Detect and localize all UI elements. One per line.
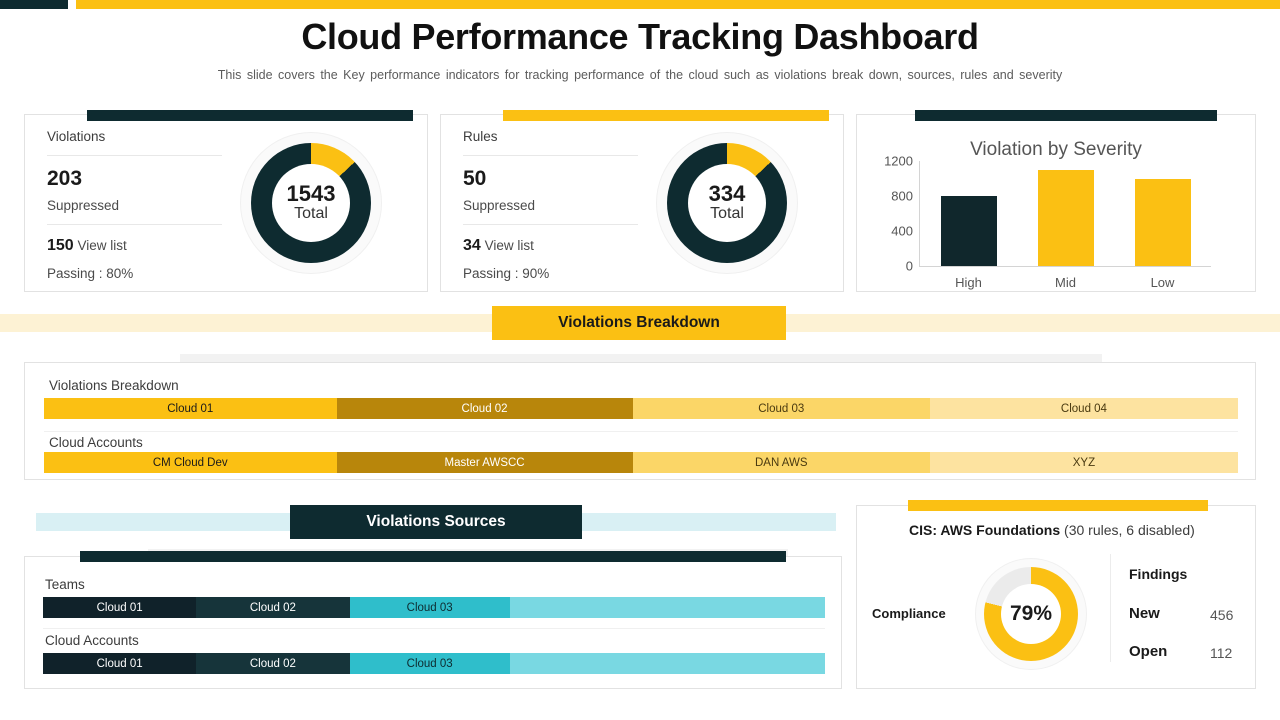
rules-suppressed-value: 50 [463, 156, 638, 191]
breakdown-row-1-segment[interactable]: XYZ [930, 452, 1238, 473]
violations-passing: Passing : 80% [47, 255, 222, 281]
violations-donut-label: Total [294, 205, 328, 223]
breakdown-row-0-segment[interactable]: Cloud 04 [930, 398, 1238, 419]
y-axis-tick: 1200 [884, 154, 913, 169]
rules-card-accent [503, 110, 829, 121]
rules-view-list-link[interactable]: View list [485, 238, 534, 253]
sources-row-1-label: Cloud Accounts [45, 633, 139, 648]
sources-panel-accent [80, 551, 786, 562]
severity-chart-title: Violation by Severity [857, 139, 1255, 161]
findings-heading: Findings [1129, 566, 1187, 582]
sources-row-1-segment[interactable]: Cloud 02 [196, 653, 349, 674]
breakdown-panel: Violations Breakdown Cloud 01Cloud 02Clo… [24, 362, 1256, 480]
breakdown-row-1-segment[interactable]: CM Cloud Dev [44, 452, 337, 473]
finding-name-open: Open [1129, 643, 1167, 660]
sources-row-0-segment[interactable]: Cloud 01 [43, 597, 196, 618]
compliance-donut-center: 79% [1001, 584, 1061, 644]
page-title: Cloud Performance Tracking Dashboard [0, 16, 1280, 58]
rules-donut: 334 Total [657, 133, 797, 273]
sources-panel: Teams Cloud 01Cloud 02Cloud 03 Cloud Acc… [24, 556, 842, 689]
breakdown-row-1-label: Cloud Accounts [49, 435, 143, 450]
bar-mid [1038, 170, 1094, 266]
top-accent-gold [76, 0, 1280, 9]
sources-row-1-segment[interactable]: Cloud 01 [43, 653, 196, 674]
finding-value-new: 456 [1210, 607, 1233, 623]
violations-suppressed-label: Suppressed [47, 191, 222, 224]
breakdown-row-0-bar: Cloud 01Cloud 02Cloud 03Cloud 04 [44, 398, 1238, 419]
finding-name-new: New [1129, 605, 1160, 622]
severity-chart-plot: 12008004000HighMidLow [919, 161, 1211, 267]
rules-card: Rules 50 Suppressed 34 View list Passing… [440, 114, 844, 292]
violations-view-list-link[interactable]: View list [77, 238, 126, 253]
compliance-donut: 79% [976, 559, 1086, 669]
violations-suppressed-value: 203 [47, 156, 222, 191]
violations-donut: 1543 Total [241, 133, 381, 273]
page-subtitle: This slide covers the Key performance in… [0, 68, 1280, 82]
breakdown-row-0-segment[interactable]: Cloud 03 [633, 398, 930, 419]
bar-high [941, 196, 997, 266]
sources-row-0-label: Teams [45, 577, 85, 592]
severity-card-accent [915, 110, 1217, 121]
breakdown-banner: Violations Breakdown [492, 306, 786, 340]
rules-kpi-stats: Rules 50 Suppressed 34 View list Passing… [463, 129, 638, 281]
y-axis-tick: 800 [891, 189, 913, 204]
violations-kpi-stats: Violations 203 Suppressed 150 View list … [47, 129, 222, 281]
sources-row-0-bar: Cloud 01Cloud 02Cloud 03 [43, 597, 825, 618]
breakdown-row-1-segment[interactable]: DAN AWS [633, 452, 930, 473]
cis-panel: CIS: AWS Foundations (30 rules, 6 disabl… [856, 505, 1256, 689]
rules-donut-label: Total [710, 205, 744, 223]
compliance-label: Compliance [872, 606, 946, 621]
sources-divider [43, 628, 825, 629]
sources-row-1-bar: Cloud 01Cloud 02Cloud 03 [43, 653, 825, 674]
top-accent-dark [0, 0, 68, 9]
x-axis-tick: High [955, 275, 982, 290]
y-axis-tick: 0 [906, 259, 913, 274]
breakdown-divider [44, 431, 1238, 432]
dashboard-slide: Cloud Performance Tracking Dashboard Thi… [0, 0, 1280, 720]
rules-donut-center: 334 Total [688, 164, 766, 242]
compliance-percent: 79% [1010, 603, 1052, 625]
breakdown-row-1-bar: CM Cloud DevMaster AWSCCDAN AWSXYZ [44, 452, 1238, 473]
rules-passing: Passing : 90% [463, 255, 638, 281]
breakdown-row-1-segment[interactable]: Master AWSCC [337, 452, 633, 473]
y-axis-tick: 400 [891, 224, 913, 239]
sources-row-1-segment[interactable]: Cloud 03 [350, 653, 510, 674]
sources-row-0-segment[interactable]: Cloud 02 [196, 597, 349, 618]
cis-panel-accent [908, 500, 1208, 511]
cis-panel-title: CIS: AWS Foundations (30 rules, 6 disabl… [909, 522, 1195, 538]
bar-low [1135, 179, 1191, 267]
top-accent-strip [0, 0, 1280, 9]
sources-row-1-segment[interactable] [510, 653, 825, 674]
violations-card-accent [87, 110, 413, 121]
violations-list-value: 150 [47, 237, 74, 254]
rules-donut-value: 334 [709, 182, 746, 205]
sources-row-0-segment[interactable]: Cloud 03 [350, 597, 510, 618]
finding-value-open: 112 [1210, 645, 1232, 661]
severity-chart-card: Violation by Severity 12008004000HighMid… [856, 114, 1256, 292]
rules-suppressed-label: Suppressed [463, 191, 638, 224]
violations-card: Violations 203 Suppressed 150 View list … [24, 114, 428, 292]
x-axis-tick: Mid [1055, 275, 1076, 290]
rules-list-value: 34 [463, 237, 481, 254]
rules-heading: Rules [463, 129, 638, 156]
cis-title-bold: CIS: AWS Foundations [909, 522, 1060, 538]
violations-donut-center: 1543 Total [272, 164, 350, 242]
breakdown-row-0-label: Violations Breakdown [49, 378, 179, 393]
sources-row-0-segment[interactable] [510, 597, 825, 618]
x-axis-tick: Low [1151, 275, 1175, 290]
breakdown-row-0-segment[interactable]: Cloud 02 [337, 398, 633, 419]
violations-donut-value: 1543 [287, 182, 336, 205]
cis-vertical-divider [1110, 554, 1111, 662]
cis-title-rest: (30 rules, 6 disabled) [1060, 522, 1195, 538]
breakdown-row-0-segment[interactable]: Cloud 01 [44, 398, 337, 419]
sources-banner: Violations Sources [290, 505, 582, 539]
violations-heading: Violations [47, 129, 222, 156]
